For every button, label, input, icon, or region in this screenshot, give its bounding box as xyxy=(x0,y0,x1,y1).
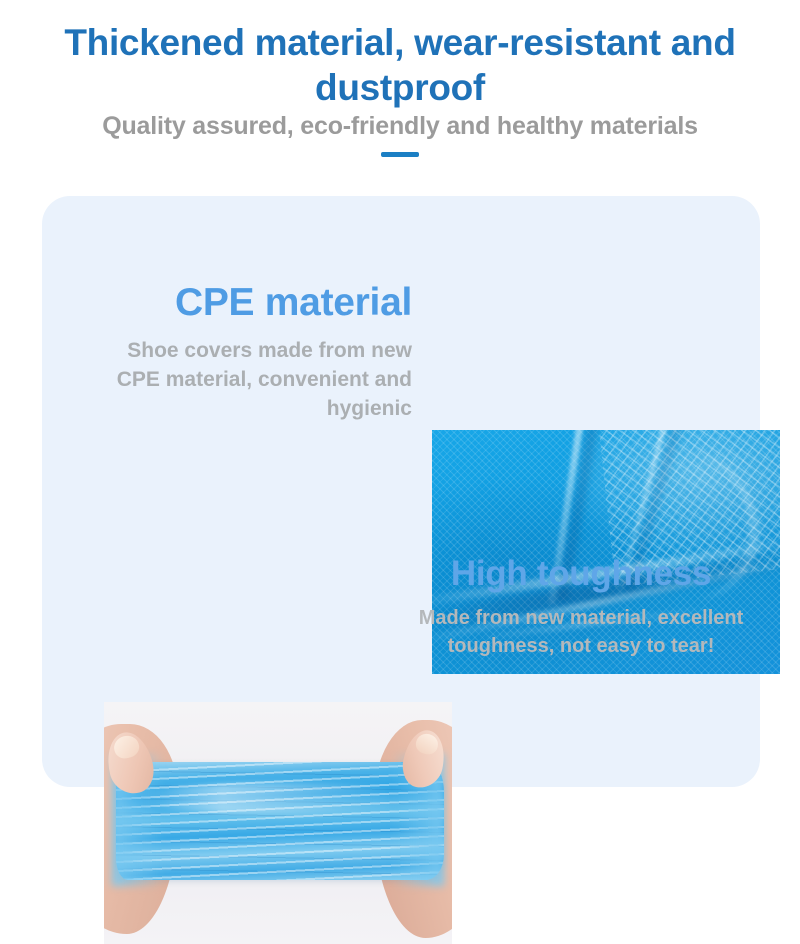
header-divider xyxy=(381,152,419,157)
feature-high-toughness-text: High toughness Made from new material, e… xyxy=(416,552,746,660)
feature-cpe-material-text: CPE material Shoe covers made from new C… xyxy=(82,280,412,423)
header-section: Thickened material, wear-resistant and d… xyxy=(0,0,800,180)
page-subtitle: Quality assured, eco-friendly and health… xyxy=(15,110,785,142)
product-feature-banner: Thickened material, wear-resistant and d… xyxy=(0,0,800,800)
feature-high-toughness-image xyxy=(104,702,452,944)
page-title: Thickened material, wear-resistant and d… xyxy=(30,20,770,110)
feature-cpe-material-description: Shoe covers made from new CPE material, … xyxy=(82,336,412,423)
feature-high-toughness-description: Made from new material, excellent toughn… xyxy=(416,604,746,660)
feature-high-toughness-heading: High toughness xyxy=(416,552,746,596)
feature-cpe-material-heading: CPE material xyxy=(82,280,412,326)
film-gloss xyxy=(136,783,425,814)
feature-card: CPE material Shoe covers made from new C… xyxy=(42,196,760,787)
